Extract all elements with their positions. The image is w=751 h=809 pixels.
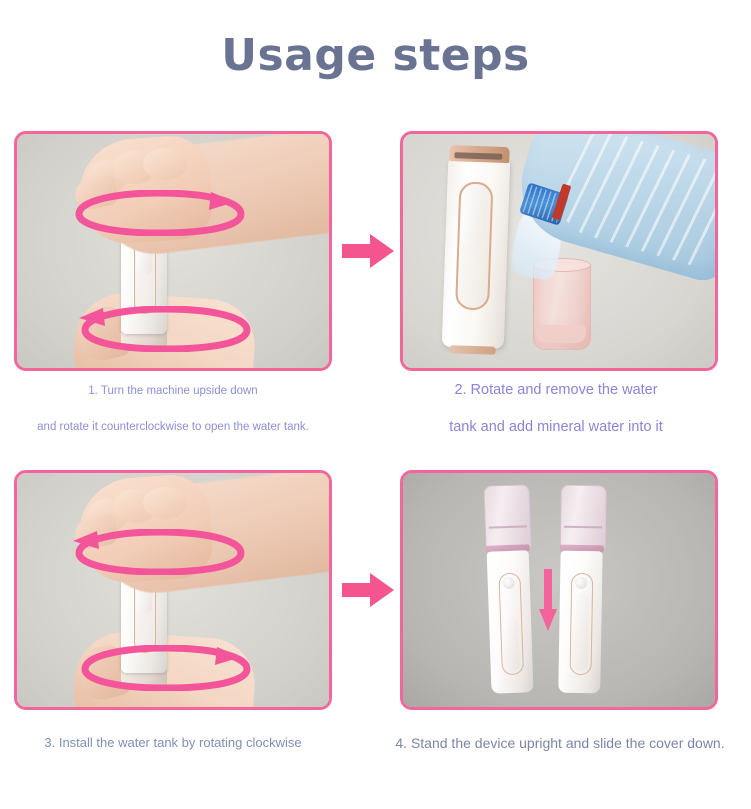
- device-slider: [460, 185, 486, 248]
- usage-steps-grid: 1. Turn the machine upside down and rota…: [0, 131, 751, 809]
- pouring-water-photo: [403, 134, 715, 368]
- step-3-caption-line-1: 3. Install the water tank by rotating cl…: [14, 733, 332, 753]
- flow-arrow-step1-to-step2: [340, 231, 396, 271]
- device-body: [558, 551, 602, 694]
- slide-cover-down-arrow-icon: [539, 569, 557, 638]
- step-1-caption-line-2: and rotate it counterclockwise to open t…: [14, 419, 332, 437]
- step-row-1: 1. Turn the machine upside down and rota…: [0, 131, 751, 470]
- page-title: Usage steps: [0, 30, 751, 81]
- device-cap-line: [489, 525, 527, 528]
- knuckle-shape: [143, 487, 187, 519]
- device-foot: [449, 345, 495, 355]
- knuckle-shape: [143, 148, 187, 180]
- step-2-image-panel: [400, 131, 718, 371]
- counterclockwise-rotation-arrow-icon: [59, 190, 249, 241]
- device-transparent-cap: [483, 484, 531, 550]
- hand-installing-tank-photo: [17, 473, 329, 707]
- counterclockwise-rotation-arrow-icon: [65, 306, 255, 357]
- flow-arrow-step3-to-step4: [340, 570, 396, 610]
- step-3-caption: 3. Install the water tank by rotating cl…: [14, 733, 332, 753]
- step-1-caption-line-1: 1. Turn the machine upside down: [14, 383, 332, 401]
- step-row-2: 3. Install the water tank by rotating cl…: [0, 470, 751, 809]
- step-2-caption: 2. Rotate and remove the water tank and …: [394, 379, 718, 439]
- step-4-caption: 4. Stand the device upright and slide th…: [390, 733, 730, 755]
- water-inside-tank: [536, 325, 586, 343]
- nano-mister-device-left: [483, 484, 534, 695]
- device-transparent-cap: [560, 485, 607, 550]
- device-slider: [572, 593, 589, 671]
- clockwise-rotation-arrow-icon: [65, 645, 255, 696]
- device-body: [487, 550, 534, 693]
- step-2-caption-line-1: 2. Rotate and remove the water: [394, 379, 718, 401]
- step-2-caption-line-2: tank and add mineral water into it: [394, 416, 718, 438]
- clockwise-rotation-arrow-icon: [59, 529, 249, 580]
- nano-mister-device: [442, 157, 511, 349]
- hand-holding-device-photo: [17, 134, 329, 368]
- device-slider: [502, 617, 520, 672]
- step-1-image-panel: [14, 131, 332, 371]
- step-1-caption: 1. Turn the machine upside down and rota…: [14, 383, 332, 437]
- two-devices-photo: [403, 473, 715, 707]
- step-3-image-panel: [14, 470, 332, 710]
- device-cap-line: [564, 526, 602, 529]
- nano-mister-device-right: [557, 485, 605, 696]
- step-4-caption-line-1: 4. Stand the device upright and slide th…: [390, 733, 730, 755]
- step-4-image-panel: [400, 470, 718, 710]
